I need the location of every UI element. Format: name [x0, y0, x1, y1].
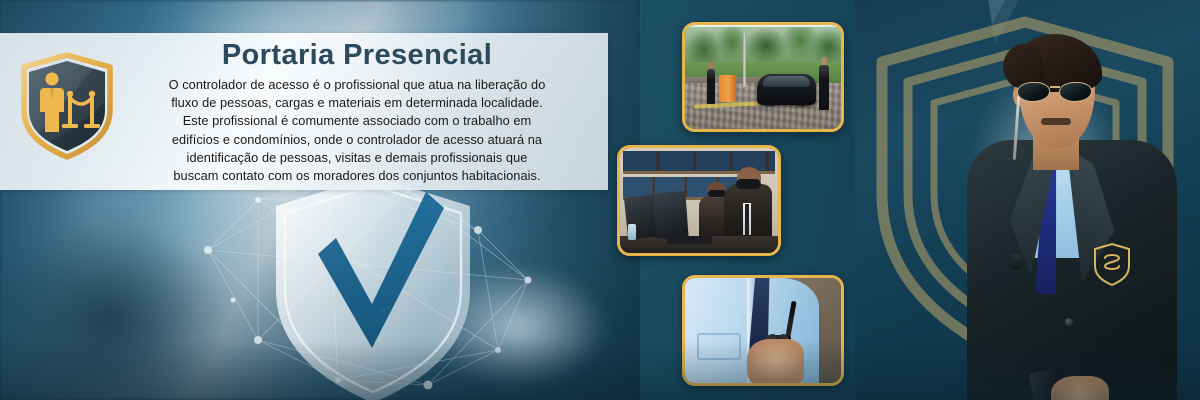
photo-card-cctv-monitoring[interactable]: [617, 145, 781, 256]
banner-portaria-presencial: Portaria Presencial O controlador de ace…: [0, 0, 1200, 400]
panel-text-block: Portaria Presencial O controlador de ace…: [124, 35, 590, 185]
guard-hand: [1051, 376, 1109, 400]
photo-card-gate-entrance[interactable]: [682, 22, 844, 132]
photo-card-guard-radio[interactable]: [682, 275, 844, 386]
sunglasses-icon: [1015, 80, 1099, 103]
security-guard-portrait: [915, 18, 1183, 400]
jacket-button: [1065, 318, 1073, 326]
desc-line: identificação de pessoas, visitas e dema…: [124, 149, 590, 167]
gate-entrance-photo: [685, 25, 841, 129]
desc-line: buscam contato com os moradores dos conj…: [124, 167, 590, 185]
background-hand-blur: [400, 250, 660, 400]
info-panel: Portaria Presencial O controlador de ace…: [0, 33, 608, 190]
concierge-shield-icon: [20, 52, 114, 160]
page-title: Portaria Presencial: [124, 35, 590, 75]
panel-description: O controlador de acesso é o profissional…: [124, 76, 590, 185]
gold-shield-emblem-icon: [1093, 242, 1131, 286]
lapel-microphone-icon: [1011, 254, 1022, 269]
guard-moustache: [1041, 118, 1071, 125]
guard-radio-photo: [685, 278, 841, 383]
cctv-monitoring-photo: [620, 148, 778, 253]
desc-line: Este profissional é comumente associado …: [124, 112, 590, 130]
desc-line: fluxo de pessoas, cargas e materiais em …: [124, 94, 590, 112]
desc-line: O controlador de acesso é o profissional…: [124, 76, 590, 94]
desc-line: edifícios e condomínios, onde o controla…: [124, 131, 590, 149]
